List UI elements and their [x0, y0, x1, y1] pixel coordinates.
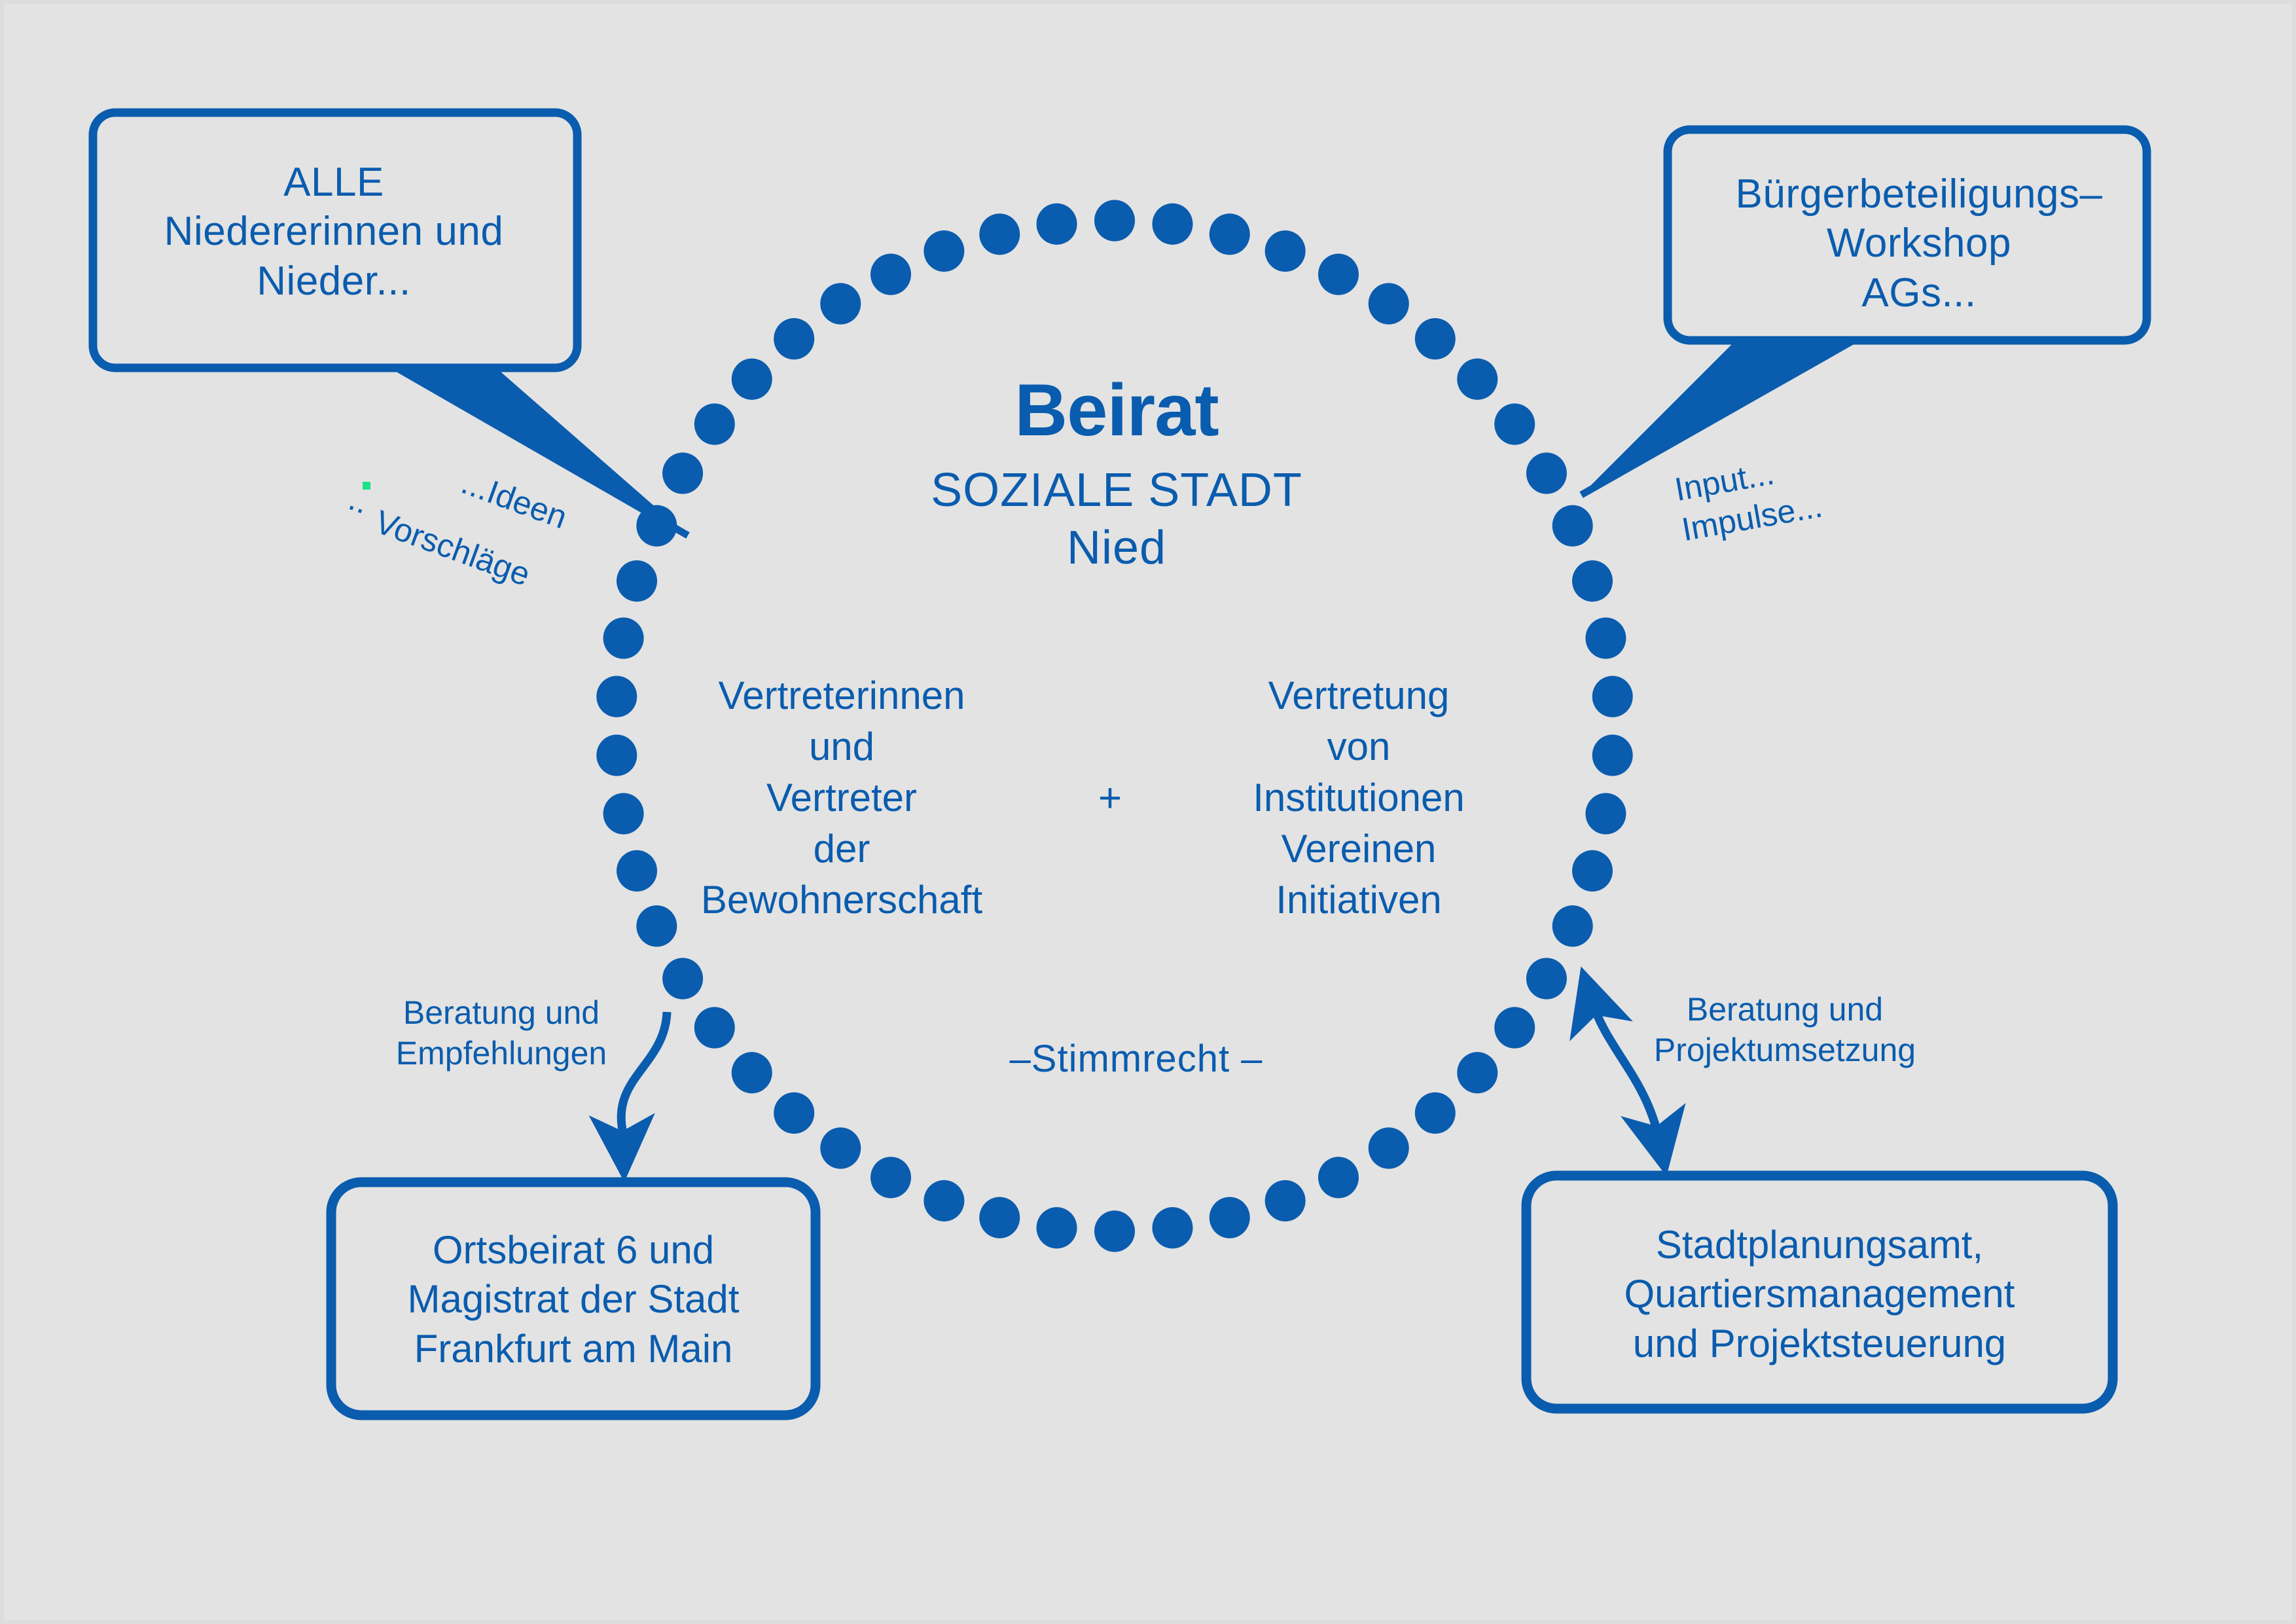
box-bottom-right-label: Stadtplanungsamt, Quartiersmanagement un…	[1534, 1186, 2105, 1402]
circle-dot	[1494, 1007, 1535, 1048]
center-column-right: Vertretung von Institutionen Vereinen In…	[1202, 670, 1516, 926]
circle-dot	[1494, 403, 1535, 444]
circle-dot	[1572, 850, 1613, 892]
box-bottom-left-label: Ortsbeirat 6 und Magistrat der Stadt Fra…	[339, 1194, 808, 1405]
circle-dot	[617, 560, 657, 602]
circle-dot	[1094, 1210, 1135, 1252]
circle-dot	[870, 1157, 911, 1198]
bubble-top-left-label: ALLE Niedererinnen und Nieder...	[101, 120, 567, 343]
circle-dot	[979, 213, 1020, 255]
circle-dot	[596, 734, 637, 776]
circle-dot	[1369, 1127, 1409, 1168]
center-column-left: Vertreterinnen und Vertreter der Bewohne…	[658, 670, 1025, 926]
circle-dot	[820, 283, 861, 324]
circle-dot	[603, 793, 644, 834]
circle-dot	[1552, 505, 1593, 547]
circle-dot	[924, 1180, 964, 1221]
annotation-beratung-empfehlungen: Beratung und Empfehlungen	[370, 992, 632, 1074]
plus-sign: +	[1071, 775, 1149, 821]
circle-dot	[1526, 958, 1567, 999]
bubble-top-right-label: Bürgerbeteiligungs– Workshop AGs...	[1690, 145, 2148, 342]
circle-dot	[870, 254, 911, 295]
circle-dot	[1552, 905, 1593, 947]
circle-dot	[1318, 254, 1359, 295]
circle-dot	[979, 1197, 1020, 1238]
circle-dot	[617, 850, 657, 892]
circle-dot	[694, 403, 735, 444]
circle-dot	[820, 1127, 861, 1168]
page-title: Beirat	[763, 368, 1470, 452]
circle-dot	[1037, 1207, 1077, 1248]
circle-dot	[694, 1007, 735, 1048]
circle-dot	[1369, 283, 1409, 324]
circle-dot	[1415, 318, 1456, 359]
circle-dot	[1210, 1197, 1250, 1238]
diagram-canvas: ALLE Niedererinnen und Nieder... Bürgerb…	[0, 0, 2296, 1624]
circle-dot	[603, 617, 644, 659]
circle-dot	[774, 1092, 814, 1134]
circle-dot	[774, 318, 814, 359]
circle-dot	[1265, 230, 1306, 272]
circle-dot	[1265, 1180, 1306, 1221]
circle-dot	[1037, 204, 1077, 245]
circle-dot	[1592, 734, 1633, 776]
circle-dot	[1585, 617, 1626, 659]
circle-dot	[1457, 1052, 1498, 1093]
circle-dot	[662, 452, 703, 494]
circle-dot	[1152, 1207, 1193, 1248]
circle-dot	[1592, 676, 1633, 717]
circle-dot	[1094, 200, 1135, 241]
circle-dot	[1572, 560, 1613, 602]
circle-dot	[924, 230, 964, 272]
center-subtitle: SOZIALE STADT Nied	[763, 462, 1470, 577]
circle-dot	[1318, 1157, 1359, 1198]
circle-dot	[1526, 452, 1567, 494]
circle-dot	[596, 676, 637, 717]
circle-dot	[1152, 204, 1193, 245]
annotation-beratung-projektumsetzung: Beratung und Projektumsetzung	[1631, 989, 1939, 1070]
circle-dot	[732, 1052, 772, 1093]
circle-dot	[662, 958, 703, 999]
circle-dot	[1585, 793, 1626, 834]
circle-dot	[1415, 1092, 1456, 1134]
stimmrecht-note: –Stimmrecht –	[933, 1037, 1339, 1081]
circle-dot	[1210, 213, 1250, 255]
